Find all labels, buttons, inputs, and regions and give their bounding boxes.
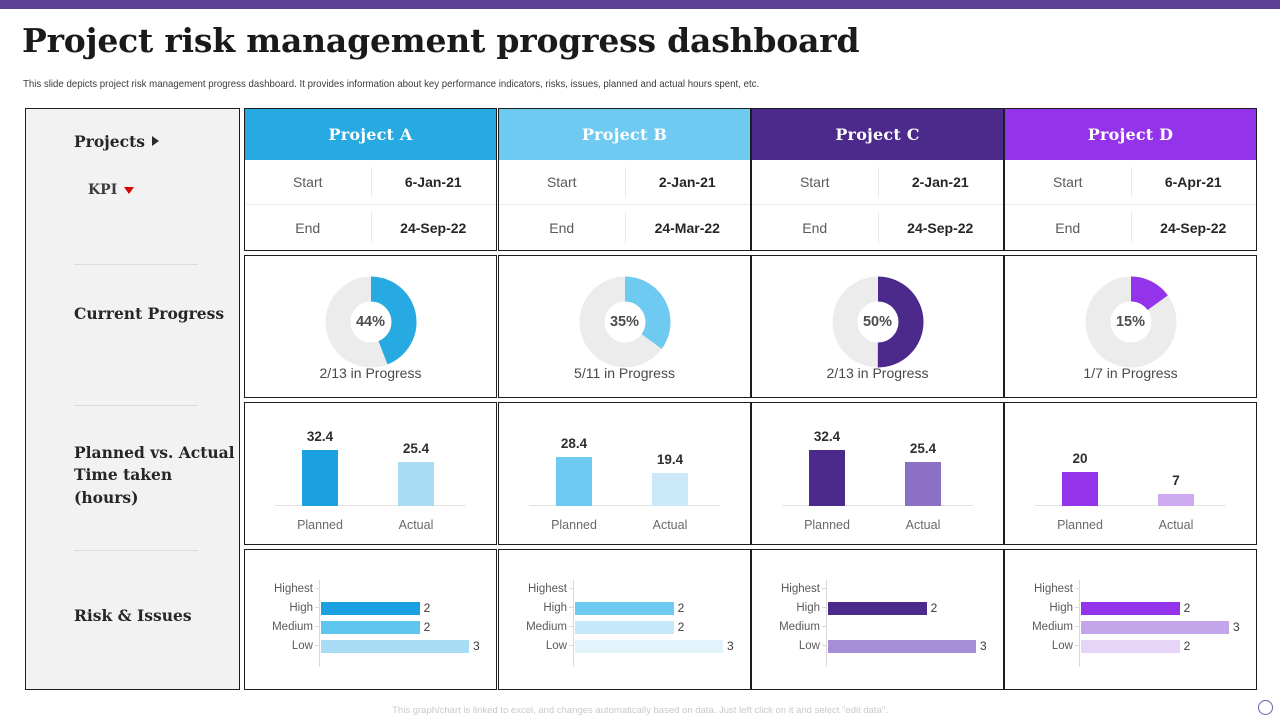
risk-row: Medium2 xyxy=(499,618,750,636)
risk-value-label: 2 xyxy=(1184,599,1191,617)
risk-row: Highest xyxy=(245,580,496,598)
sidebar-projects-label: Projects xyxy=(74,132,145,151)
project-title: Project A xyxy=(245,109,496,160)
start-date-row: Start6-Jan-21 xyxy=(245,160,496,205)
project-column: Project CStart2-Jan-21End24-Sep-2250%2/1… xyxy=(751,108,1004,690)
planned-value-label: 28.4 xyxy=(561,436,587,451)
risk-axis-tick xyxy=(315,588,319,589)
risk-bar xyxy=(575,621,674,634)
end-date-row: End24-Mar-22 xyxy=(499,205,750,250)
sidebar-row-current-progress: Current Progress xyxy=(26,299,241,359)
actual-value-label: 7 xyxy=(1172,473,1180,488)
planned-bar: 32.4Planned xyxy=(302,450,338,506)
sidebar-kpi-label: KPI xyxy=(88,182,117,198)
project-header-card: Project AStart6-Jan-21End24-Sep-22 xyxy=(244,108,497,251)
planned-category-label: Planned xyxy=(551,518,597,532)
planned-bar: 20Planned xyxy=(1062,472,1098,506)
actual-bar: 25.4Actual xyxy=(905,462,941,506)
progress-caption: 5/11 in Progress xyxy=(499,365,750,381)
planned-actual-chart: 28.4Planned19.4Actual xyxy=(499,403,750,544)
slide: Project risk management progress dashboa… xyxy=(0,0,1280,720)
planned-bar: 28.4Planned xyxy=(556,457,592,506)
risk-row: High2 xyxy=(499,599,750,617)
project-title: Project C xyxy=(752,109,1003,160)
start-date-row: Start6-Apr-21 xyxy=(1005,160,1256,205)
risk-issues-card: HighestHigh2MediumLow3 xyxy=(751,549,1004,690)
risk-axis-tick xyxy=(1075,607,1079,608)
risk-level-label: High xyxy=(499,599,567,617)
risk-bar xyxy=(828,640,976,653)
project-column: Project DStart6-Apr-21End24-Sep-2215%1/7… xyxy=(1004,108,1257,690)
risk-row: High2 xyxy=(752,599,1003,617)
risk-value-label: 3 xyxy=(980,637,987,655)
risk-bar xyxy=(321,621,420,634)
planned-category-label: Planned xyxy=(1057,518,1103,532)
planned-actual-chart: 32.4Planned25.4Actual xyxy=(752,403,1003,544)
risk-row: High2 xyxy=(245,599,496,617)
risk-value-label: 3 xyxy=(473,637,480,655)
planned-actual-card: 32.4Planned25.4Actual xyxy=(244,402,497,545)
risk-value-label: 2 xyxy=(931,599,938,617)
risk-level-label: Low xyxy=(1005,637,1073,655)
current-progress-card: 35%5/11 in Progress xyxy=(498,255,751,398)
planned-value-label: 20 xyxy=(1072,451,1087,466)
start-value: 6-Apr-21 xyxy=(1131,174,1257,190)
risk-level-label: Medium xyxy=(245,618,313,636)
start-label: Start xyxy=(245,174,371,190)
sidebar-row-planned-actual: Planned vs. Actual Time taken (hours) xyxy=(26,436,241,516)
end-label: End xyxy=(752,220,878,236)
donut-percent-label: 50% xyxy=(832,314,924,330)
donut-percent-label: 44% xyxy=(325,314,417,330)
risk-axis-tick xyxy=(569,607,573,608)
start-date-row: Start2-Jan-21 xyxy=(752,160,1003,205)
risk-value-label: 2 xyxy=(424,618,431,636)
risk-level-label: Highest xyxy=(752,580,820,598)
risk-bar xyxy=(1081,621,1229,634)
triangle-right-icon[interactable] xyxy=(152,136,159,146)
risk-axis-tick xyxy=(822,607,826,608)
planned-value-label: 32.4 xyxy=(814,429,840,444)
risk-axis-tick xyxy=(1075,588,1079,589)
page-subtitle: This slide depicts project risk manageme… xyxy=(23,78,1035,90)
donut-ring: 50% xyxy=(832,276,924,368)
top-accent-bar xyxy=(0,0,1280,9)
project-column: Project BStart2-Jan-21End24-Mar-2235%5/1… xyxy=(498,108,751,690)
actual-bar: 25.4Actual xyxy=(398,462,434,506)
risk-level-label: Medium xyxy=(1005,618,1073,636)
risk-level-label: Low xyxy=(752,637,820,655)
planned-value-label: 32.4 xyxy=(307,429,333,444)
risk-level-label: Highest xyxy=(499,580,567,598)
risk-level-label: Low xyxy=(245,637,313,655)
risk-issues-card: HighestHigh2Medium2Low3 xyxy=(498,549,751,690)
risk-axis-tick xyxy=(1075,645,1079,646)
project-title: Project D xyxy=(1005,109,1256,160)
progress-caption: 2/13 in Progress xyxy=(245,365,496,381)
current-progress-card: 50%2/13 in Progress xyxy=(751,255,1004,398)
end-label: End xyxy=(499,220,625,236)
risk-axis-tick xyxy=(569,626,573,627)
sidebar-divider xyxy=(74,550,198,551)
progress-caption: 2/13 in Progress xyxy=(752,365,1003,381)
risk-row: Low3 xyxy=(499,637,750,655)
risk-row: Medium2 xyxy=(245,618,496,636)
risk-bar xyxy=(575,602,674,615)
donut-ring: 15% xyxy=(1085,276,1177,368)
risk-level-label: Low xyxy=(499,637,567,655)
start-label: Start xyxy=(499,174,625,190)
donut-percent-label: 15% xyxy=(1085,314,1177,330)
risk-value-label: 3 xyxy=(1233,618,1240,636)
planned-actual-card: 20Planned7Actual xyxy=(1004,402,1257,545)
risk-level-label: High xyxy=(1005,599,1073,617)
start-value: 2-Jan-21 xyxy=(878,174,1004,190)
sidebar: Projects KPI Current Progress Planned vs… xyxy=(25,108,240,690)
risk-level-label: High xyxy=(245,599,313,617)
risk-row: Highest xyxy=(752,580,1003,598)
start-label: Start xyxy=(752,174,878,190)
risk-bar xyxy=(828,602,927,615)
current-progress-card: 44%2/13 in Progress xyxy=(244,255,497,398)
risk-value-label: 3 xyxy=(727,637,734,655)
risk-row: Medium xyxy=(752,618,1003,636)
sidebar-item-kpi[interactable]: KPI xyxy=(26,173,241,207)
end-label: End xyxy=(245,220,371,236)
risk-axis-tick xyxy=(315,626,319,627)
risk-axis-tick xyxy=(822,645,826,646)
end-date-row: End24-Sep-22 xyxy=(245,205,496,250)
dashboard-grid: Projects KPI Current Progress Planned vs… xyxy=(25,108,1257,690)
risk-row: Low3 xyxy=(245,637,496,655)
risk-level-label: Medium xyxy=(752,618,820,636)
actual-value-label: 25.4 xyxy=(403,441,429,456)
project-header-card: Project BStart2-Jan-21End24-Mar-22 xyxy=(498,108,751,251)
planned-actual-chart: 32.4Planned25.4Actual xyxy=(245,403,496,544)
risk-axis-tick xyxy=(569,645,573,646)
end-label: End xyxy=(1005,220,1131,236)
risk-issues-chart: HighestHigh2Medium3Low2 xyxy=(1005,550,1256,689)
start-value: 6-Jan-21 xyxy=(371,174,497,190)
risk-bar xyxy=(321,640,469,653)
risk-row: Low3 xyxy=(752,637,1003,655)
donut-percent-label: 35% xyxy=(579,314,671,330)
actual-value-label: 19.4 xyxy=(657,452,683,467)
current-progress-card: 15%1/7 in Progress xyxy=(1004,255,1257,398)
footer-note: This graph/chart is linked to excel, and… xyxy=(0,705,1280,716)
donut-chart: 44%2/13 in Progress xyxy=(245,256,496,397)
project-title: Project B xyxy=(499,109,750,160)
risk-axis-tick xyxy=(315,607,319,608)
end-value: 24-Sep-22 xyxy=(371,220,497,236)
sidebar-row-risk-issues: Risk & Issues xyxy=(26,599,241,631)
donut-chart: 15%1/7 in Progress xyxy=(1005,256,1256,397)
actual-value-label: 25.4 xyxy=(910,441,936,456)
actual-category-label: Actual xyxy=(1159,518,1194,532)
risk-level-label: Highest xyxy=(1005,580,1073,598)
planned-bar: 32.4Planned xyxy=(809,450,845,506)
risk-bar xyxy=(1081,640,1180,653)
risk-row: Medium3 xyxy=(1005,618,1256,636)
risk-bar xyxy=(321,602,420,615)
end-date-row: End24-Sep-22 xyxy=(1005,205,1256,250)
actual-category-label: Actual xyxy=(906,518,941,532)
risk-axis-tick xyxy=(569,588,573,589)
risk-level-label: High xyxy=(752,599,820,617)
sidebar-divider xyxy=(74,405,198,406)
actual-bar: 19.4Actual xyxy=(652,473,688,506)
page-title: Project risk management progress dashboa… xyxy=(22,21,1122,60)
risk-axis-tick xyxy=(822,588,826,589)
end-value: 24-Sep-22 xyxy=(878,220,1004,236)
risk-issues-chart: HighestHigh2Medium2Low3 xyxy=(245,550,496,689)
risk-row: Highest xyxy=(1005,580,1256,598)
project-column: Project AStart6-Jan-21End24-Sep-2244%2/1… xyxy=(244,108,497,690)
triangle-down-icon[interactable] xyxy=(124,187,134,194)
actual-category-label: Actual xyxy=(653,518,688,532)
donut-ring: 44% xyxy=(325,276,417,368)
risk-issues-card: HighestHigh2Medium2Low3 xyxy=(244,549,497,690)
sidebar-item-projects[interactable]: Projects xyxy=(26,121,241,161)
risk-row: Low2 xyxy=(1005,637,1256,655)
planned-actual-card: 28.4Planned19.4Actual xyxy=(498,402,751,545)
start-value: 2-Jan-21 xyxy=(625,174,751,190)
risk-value-label: 2 xyxy=(424,599,431,617)
risk-value-label: 2 xyxy=(678,599,685,617)
end-value: 24-Sep-22 xyxy=(1131,220,1257,236)
risk-axis-tick xyxy=(315,645,319,646)
risk-level-label: Highest xyxy=(245,580,313,598)
risk-axis-tick xyxy=(822,626,826,627)
planned-actual-card: 32.4Planned25.4Actual xyxy=(751,402,1004,545)
sidebar-divider xyxy=(74,264,198,265)
start-label: Start xyxy=(1005,174,1131,190)
actual-category-label: Actual xyxy=(399,518,434,532)
risk-value-label: 2 xyxy=(678,618,685,636)
risk-issues-card: HighestHigh2Medium3Low2 xyxy=(1004,549,1257,690)
risk-issues-chart: HighestHigh2Medium2Low3 xyxy=(499,550,750,689)
corner-circle-decoration xyxy=(1258,700,1273,715)
risk-row: Highest xyxy=(499,580,750,598)
planned-category-label: Planned xyxy=(297,518,343,532)
project-header-card: Project CStart2-Jan-21End24-Sep-22 xyxy=(751,108,1004,251)
donut-chart: 35%5/11 in Progress xyxy=(499,256,750,397)
risk-bar xyxy=(575,640,723,653)
risk-issues-chart: HighestHigh2MediumLow3 xyxy=(752,550,1003,689)
planned-actual-chart: 20Planned7Actual xyxy=(1005,403,1256,544)
project-header-card: Project DStart6-Apr-21End24-Sep-22 xyxy=(1004,108,1257,251)
end-value: 24-Mar-22 xyxy=(625,220,751,236)
progress-caption: 1/7 in Progress xyxy=(1005,365,1256,381)
risk-level-label: Medium xyxy=(499,618,567,636)
risk-axis-tick xyxy=(1075,626,1079,627)
donut-ring: 35% xyxy=(579,276,671,368)
risk-value-label: 2 xyxy=(1184,637,1191,655)
donut-chart: 50%2/13 in Progress xyxy=(752,256,1003,397)
end-date-row: End24-Sep-22 xyxy=(752,205,1003,250)
planned-category-label: Planned xyxy=(804,518,850,532)
risk-row: High2 xyxy=(1005,599,1256,617)
actual-bar: 7Actual xyxy=(1158,494,1194,506)
risk-bar xyxy=(1081,602,1180,615)
start-date-row: Start2-Jan-21 xyxy=(499,160,750,205)
